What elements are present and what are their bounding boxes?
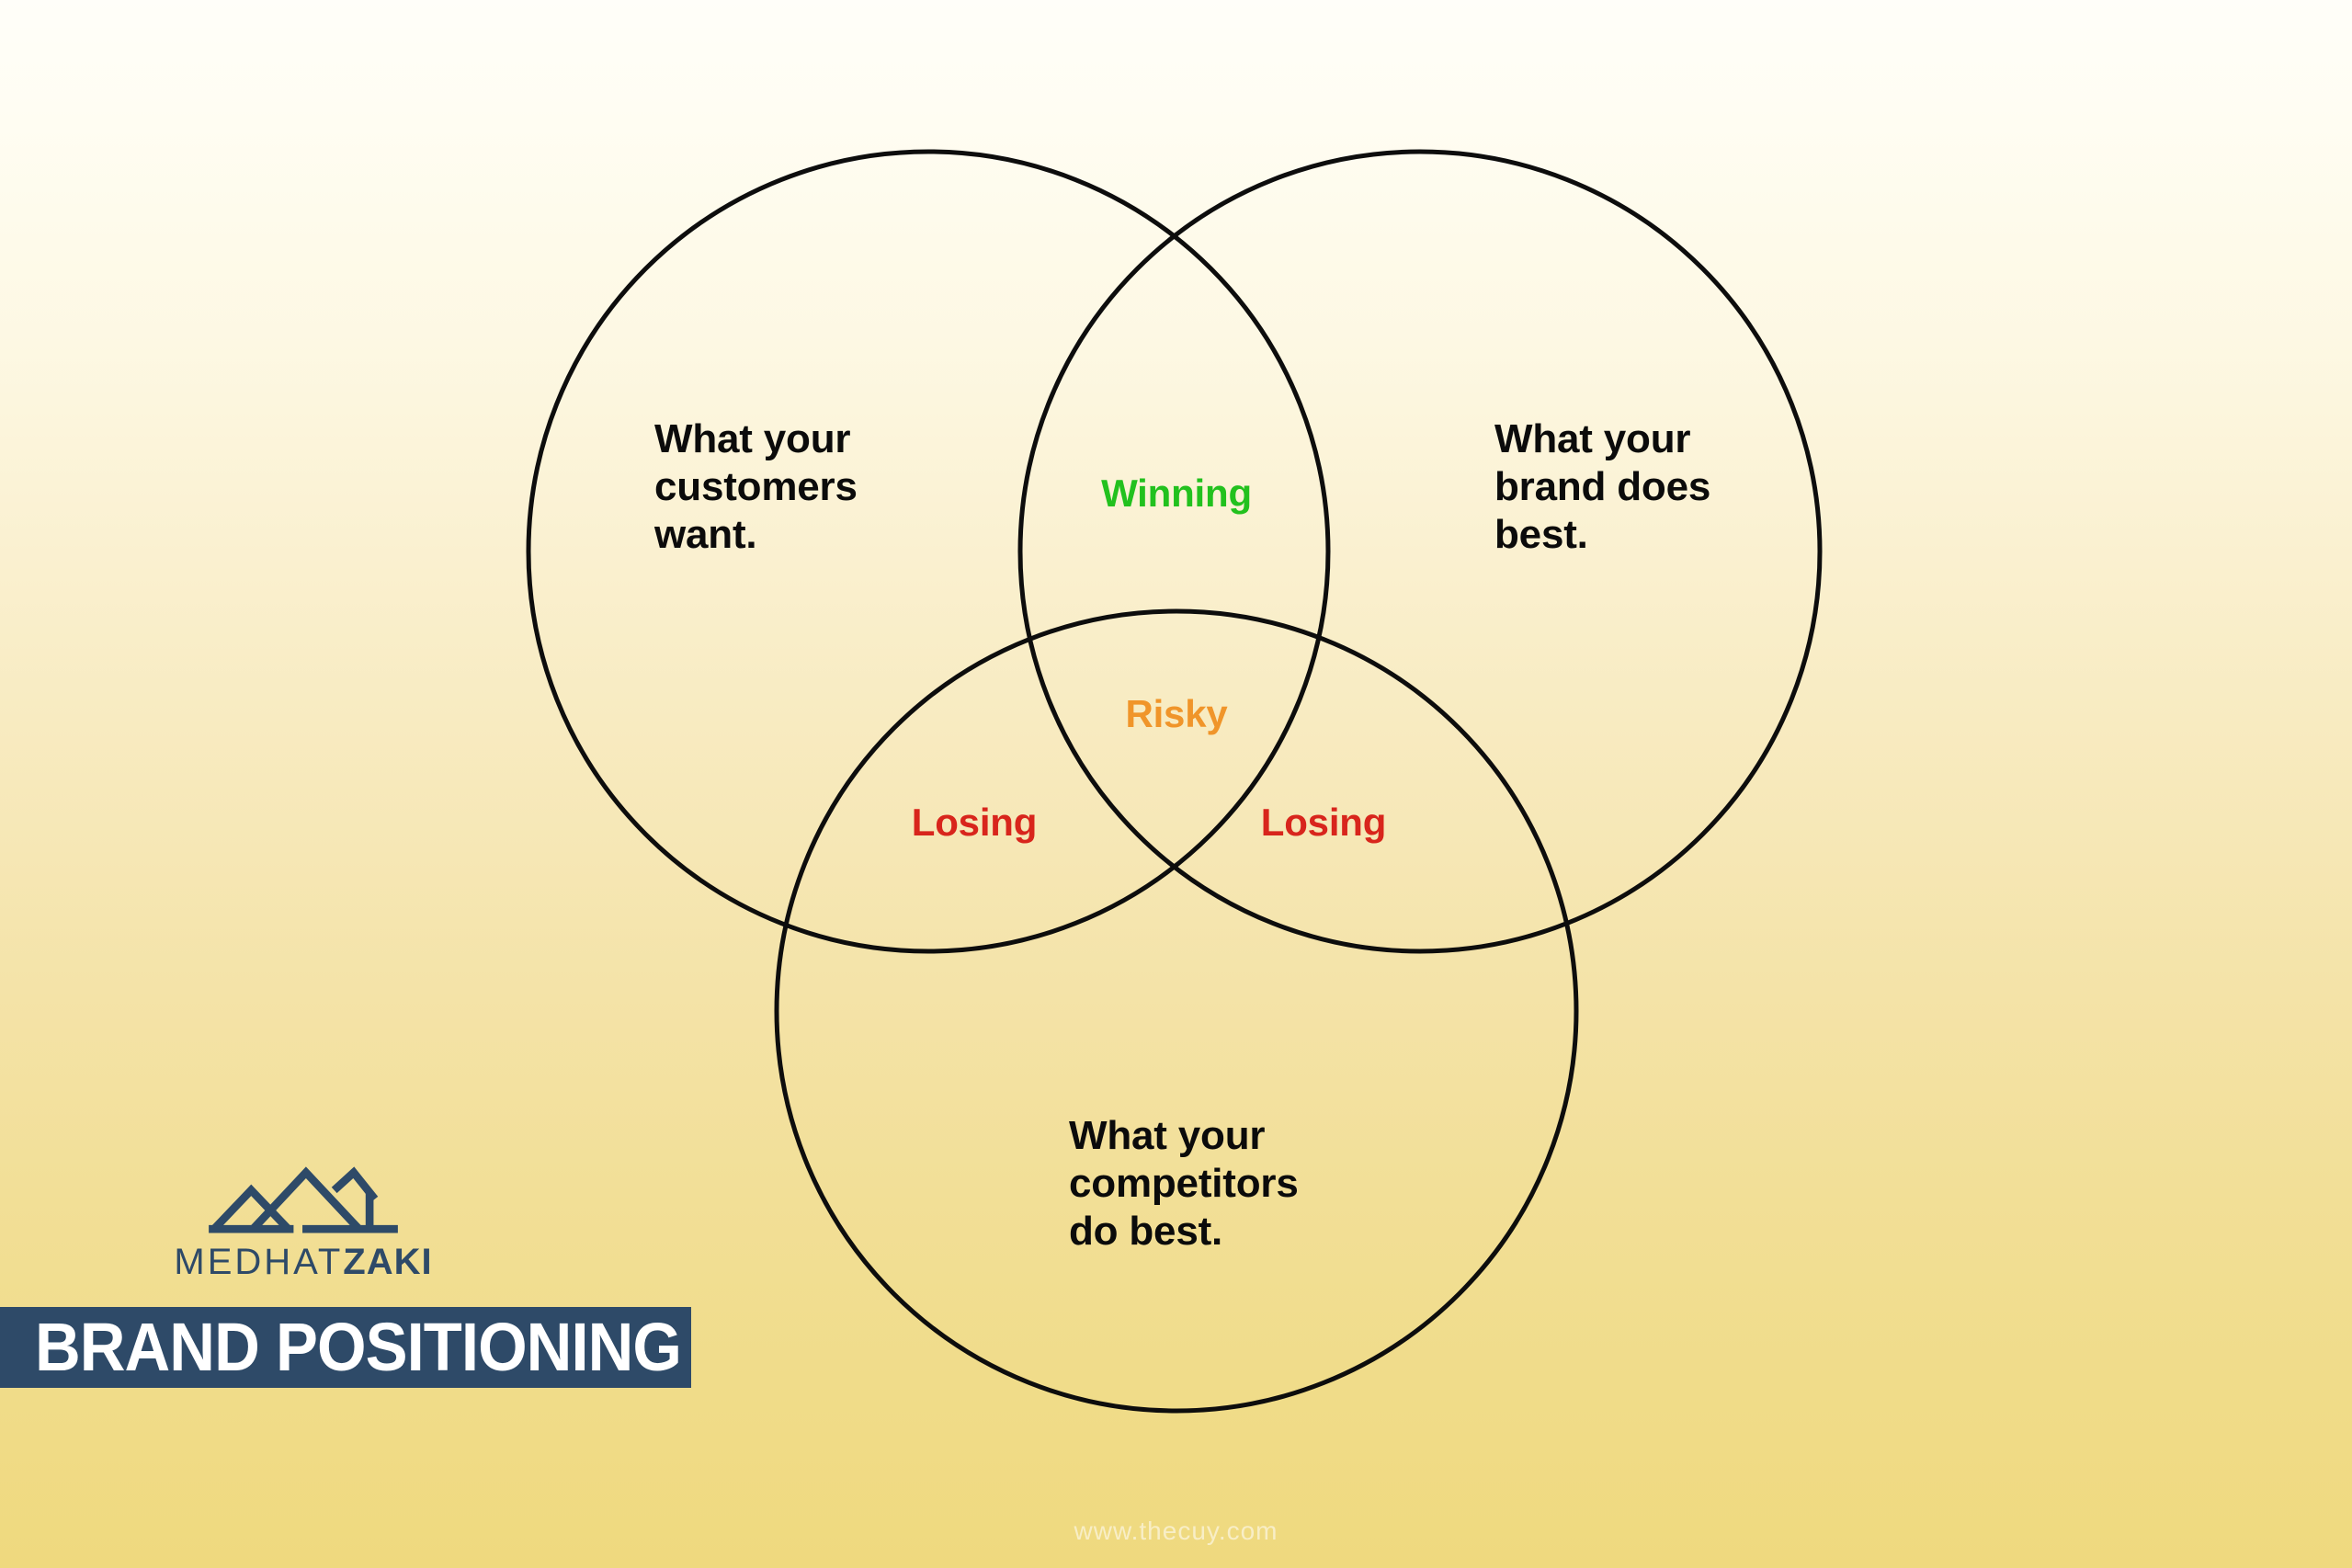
logo-wordmark-light: MEDHAT (174, 1242, 343, 1282)
venn-label-risky: Risky (993, 691, 1360, 737)
title-bar: BRAND POSITIONING (0, 1307, 691, 1388)
venn-label-winning: Winning (993, 471, 1360, 517)
venn-label-losing-left: Losing (809, 800, 1140, 846)
slide-canvas: What your customers want. What your bran… (0, 0, 2352, 1568)
mountain-peaks-icon (198, 1165, 409, 1234)
logo-wordmark: MEDHATZAKI (165, 1242, 441, 1283)
logo: MEDHATZAKI (165, 1165, 441, 1283)
venn-label-customers: What your customers want. (654, 415, 967, 559)
venn-label-brand: What your brand does best. (1494, 415, 1825, 559)
venn-label-losing-right: Losing (1158, 800, 1489, 846)
watermark: www.thecuy.com (0, 1517, 2352, 1546)
page-title: BRAND POSITIONING (35, 1313, 681, 1381)
venn-label-competitors: What your competitors do best. (1069, 1112, 1381, 1256)
brand-block: MEDHATZAKI BRAND POSITIONING (0, 1165, 699, 1388)
logo-wordmark-bold: ZAKI (343, 1242, 432, 1282)
